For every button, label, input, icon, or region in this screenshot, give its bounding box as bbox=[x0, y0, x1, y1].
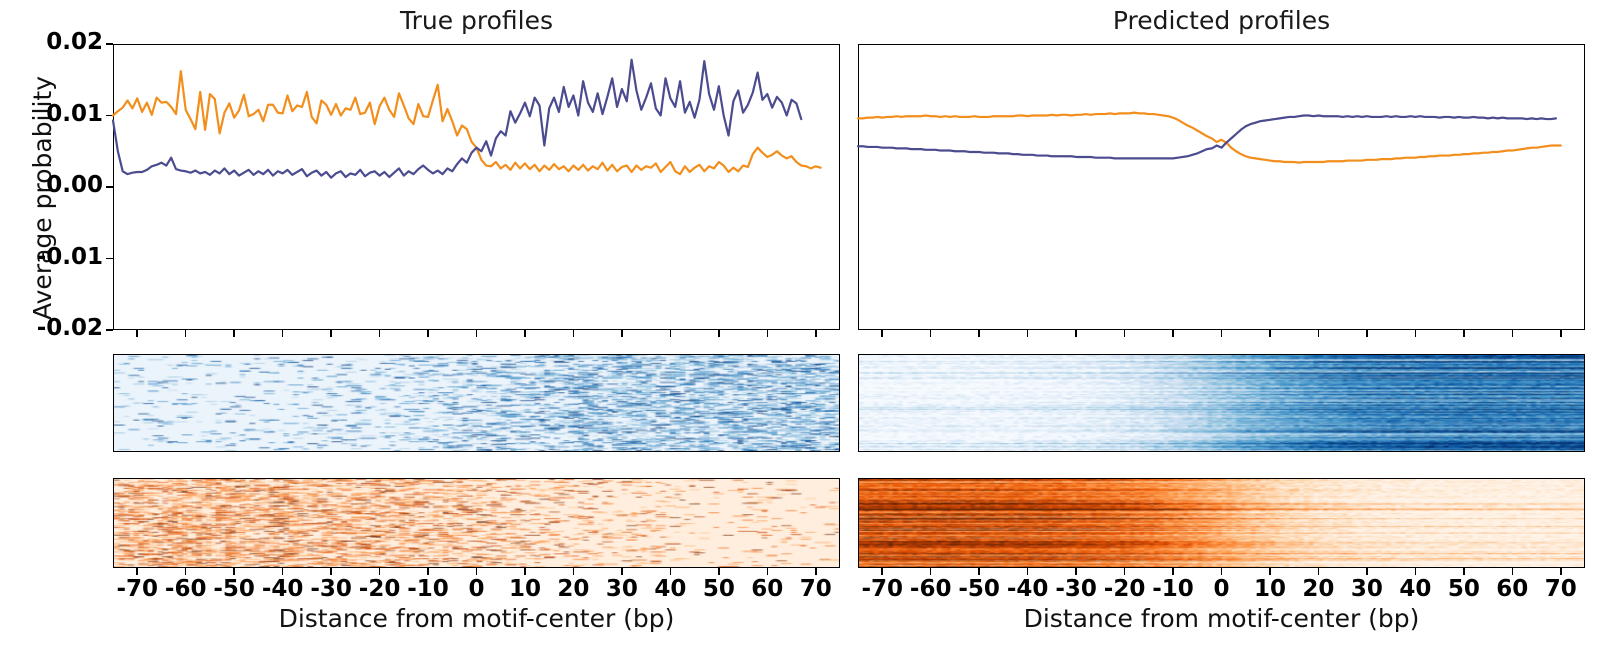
x-tick-mark bbox=[881, 568, 883, 575]
x-tick-mark bbox=[1512, 330, 1514, 337]
x-tick-mark bbox=[379, 568, 381, 575]
predicted-profiles-lines bbox=[858, 44, 1585, 330]
x-tick-mark bbox=[1463, 330, 1465, 337]
x-tick-mark bbox=[930, 330, 932, 337]
x-tick-mark bbox=[233, 330, 235, 337]
line-forward_strand bbox=[113, 71, 821, 174]
y-tick-label: 0.00 bbox=[0, 172, 103, 198]
x-tick-mark bbox=[1366, 330, 1368, 337]
x-tick-mark bbox=[427, 568, 429, 575]
x-tick-mark bbox=[1027, 330, 1029, 337]
predicted-reverse-heatmap bbox=[858, 478, 1585, 568]
x-tick-mark bbox=[524, 568, 526, 575]
x-tick-mark bbox=[1172, 568, 1174, 575]
x-tick-mark bbox=[1415, 568, 1417, 575]
x-tick-mark bbox=[1075, 568, 1077, 575]
predicted-forward-heatmap bbox=[858, 354, 1585, 452]
x-tick-mark bbox=[573, 330, 575, 337]
x-tick-mark bbox=[1560, 568, 1562, 575]
y-tick-mark bbox=[106, 186, 113, 188]
x-axis-label-left: Distance from motif-center (bp) bbox=[113, 604, 840, 633]
x-tick-mark bbox=[978, 568, 980, 575]
true-profiles-lines bbox=[113, 44, 840, 330]
x-tick-mark bbox=[1221, 568, 1223, 575]
x-tick-mark bbox=[1027, 568, 1029, 575]
x-tick-mark bbox=[1269, 568, 1271, 575]
y-tick-mark bbox=[106, 43, 113, 45]
x-tick-label: 70 bbox=[1521, 576, 1600, 602]
x-tick-mark bbox=[815, 568, 817, 575]
x-tick-mark bbox=[1269, 330, 1271, 337]
y-tick-label: -0.02 bbox=[0, 315, 103, 341]
y-tick-label: -0.01 bbox=[0, 244, 103, 270]
x-tick-mark bbox=[978, 330, 980, 337]
x-tick-mark bbox=[524, 330, 526, 337]
x-tick-mark bbox=[330, 330, 332, 337]
x-tick-mark bbox=[476, 568, 478, 575]
x-tick-mark bbox=[379, 330, 381, 337]
x-tick-mark bbox=[881, 330, 883, 337]
x-tick-mark bbox=[233, 568, 235, 575]
x-tick-mark bbox=[1318, 330, 1320, 337]
line-reverse_strand bbox=[113, 60, 801, 178]
x-tick-mark bbox=[1124, 568, 1126, 575]
x-tick-mark bbox=[282, 330, 284, 337]
figure-root: True profiles Predicted profiles Average… bbox=[0, 0, 1600, 655]
x-tick-mark bbox=[136, 568, 138, 575]
x-tick-mark bbox=[930, 568, 932, 575]
x-tick-mark bbox=[282, 568, 284, 575]
x-tick-mark bbox=[1124, 330, 1126, 337]
x-tick-mark bbox=[1318, 568, 1320, 575]
x-tick-mark bbox=[767, 330, 769, 337]
panel-title-left: True profiles bbox=[113, 6, 840, 35]
x-tick-mark bbox=[621, 568, 623, 575]
x-tick-mark bbox=[621, 330, 623, 337]
x-tick-mark bbox=[1560, 330, 1562, 337]
y-tick-label: 0.01 bbox=[0, 101, 103, 127]
true-reverse-heatmap bbox=[113, 478, 840, 568]
y-tick-mark bbox=[106, 258, 113, 260]
x-tick-mark bbox=[476, 330, 478, 337]
x-tick-mark bbox=[136, 330, 138, 337]
x-tick-mark bbox=[1366, 568, 1368, 575]
x-tick-mark bbox=[718, 330, 720, 337]
x-tick-mark bbox=[1221, 330, 1223, 337]
y-tick-label: 0.02 bbox=[0, 29, 103, 55]
x-tick-mark bbox=[767, 568, 769, 575]
x-tick-mark bbox=[670, 330, 672, 337]
x-tick-mark bbox=[718, 568, 720, 575]
x-tick-mark bbox=[1512, 568, 1514, 575]
line-forward_strand bbox=[858, 113, 1561, 163]
x-tick-mark bbox=[330, 568, 332, 575]
x-tick-mark bbox=[1172, 330, 1174, 337]
x-tick-mark bbox=[1415, 330, 1417, 337]
x-axis-label-right: Distance from motif-center (bp) bbox=[858, 604, 1585, 633]
x-tick-mark bbox=[573, 568, 575, 575]
x-tick-mark bbox=[1075, 330, 1077, 337]
x-tick-mark bbox=[1463, 568, 1465, 575]
x-tick-mark bbox=[185, 330, 187, 337]
panel-title-right: Predicted profiles bbox=[858, 6, 1585, 35]
x-tick-mark bbox=[670, 568, 672, 575]
x-tick-mark bbox=[185, 568, 187, 575]
x-tick-mark bbox=[427, 330, 429, 337]
y-tick-mark bbox=[106, 329, 113, 331]
x-tick-mark bbox=[815, 330, 817, 337]
true-forward-heatmap bbox=[113, 354, 840, 452]
